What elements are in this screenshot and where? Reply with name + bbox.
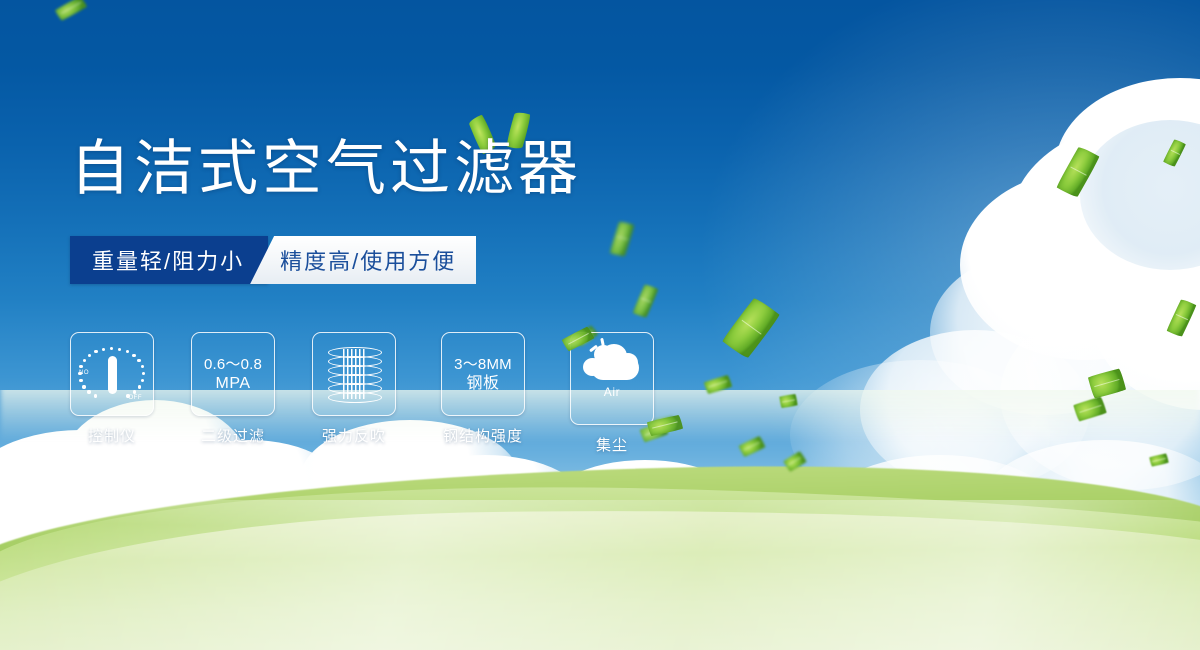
feature-item-pressure[interactable]: 0.6～0.8 MPA 二级过滤 — [191, 332, 275, 455]
feature-item-controller[interactable]: NO OFF 控制仪 — [70, 332, 154, 455]
gauge-label-no: NO — [79, 370, 89, 376]
feature-label: 强力反吹 — [322, 425, 386, 446]
feature-icon-box: 3～8MM 钢板 — [441, 332, 525, 416]
pressure-range-text: 0.6～0.8 — [204, 355, 262, 374]
subtitle-segment-right: 精度高/使用方便 — [250, 236, 476, 284]
feature-label: 二级过滤 — [201, 425, 265, 446]
feature-icon-box — [312, 332, 396, 416]
subtitle-bar: 重量轻/阻力小 精度高/使用方便 — [70, 236, 476, 284]
feature-label: 控制仪 — [88, 425, 136, 446]
gauge-lever — [108, 356, 117, 394]
feature-icon-box: NO OFF — [70, 332, 154, 416]
gauge-label-off: OFF — [129, 395, 143, 401]
steel-material-text: 钢板 — [466, 374, 499, 394]
feature-icon-box: 0.6～0.8 MPA — [191, 332, 275, 416]
pressure-unit-text: MPA — [216, 374, 251, 394]
promo-banner: 自洁式空气过滤器 重量轻/阻力小 精度高/使用方便 — [0, 0, 1200, 650]
page-title: 自洁式空气过滤器 — [70, 139, 582, 199]
steel-thickness-text: 3～8MM — [454, 355, 512, 374]
feature-icon-box: Air — [570, 332, 654, 425]
filter-coil-icon — [328, 345, 380, 403]
feature-item-steel[interactable]: 3～8MM 钢板 钢结构强度 — [433, 332, 533, 455]
feature-label: 集尘 — [596, 434, 628, 455]
feature-list: NO OFF 控制仪 0.6～0.8 MPA 二级过滤 — [70, 332, 654, 455]
feature-item-dust[interactable]: Air 集尘 — [570, 332, 654, 455]
air-text: Air — [604, 385, 620, 399]
cloud-body — [591, 354, 639, 380]
grass-light-sheen — [0, 500, 1200, 650]
cloud-air-icon — [581, 342, 643, 384]
feature-label: 钢结构强度 — [443, 425, 523, 446]
gauge-dial-icon: NO OFF — [80, 344, 144, 404]
subtitle-segment-left: 重量轻/阻力小 — [70, 236, 268, 284]
feature-item-backblow[interactable]: 强力反吹 — [312, 332, 396, 455]
